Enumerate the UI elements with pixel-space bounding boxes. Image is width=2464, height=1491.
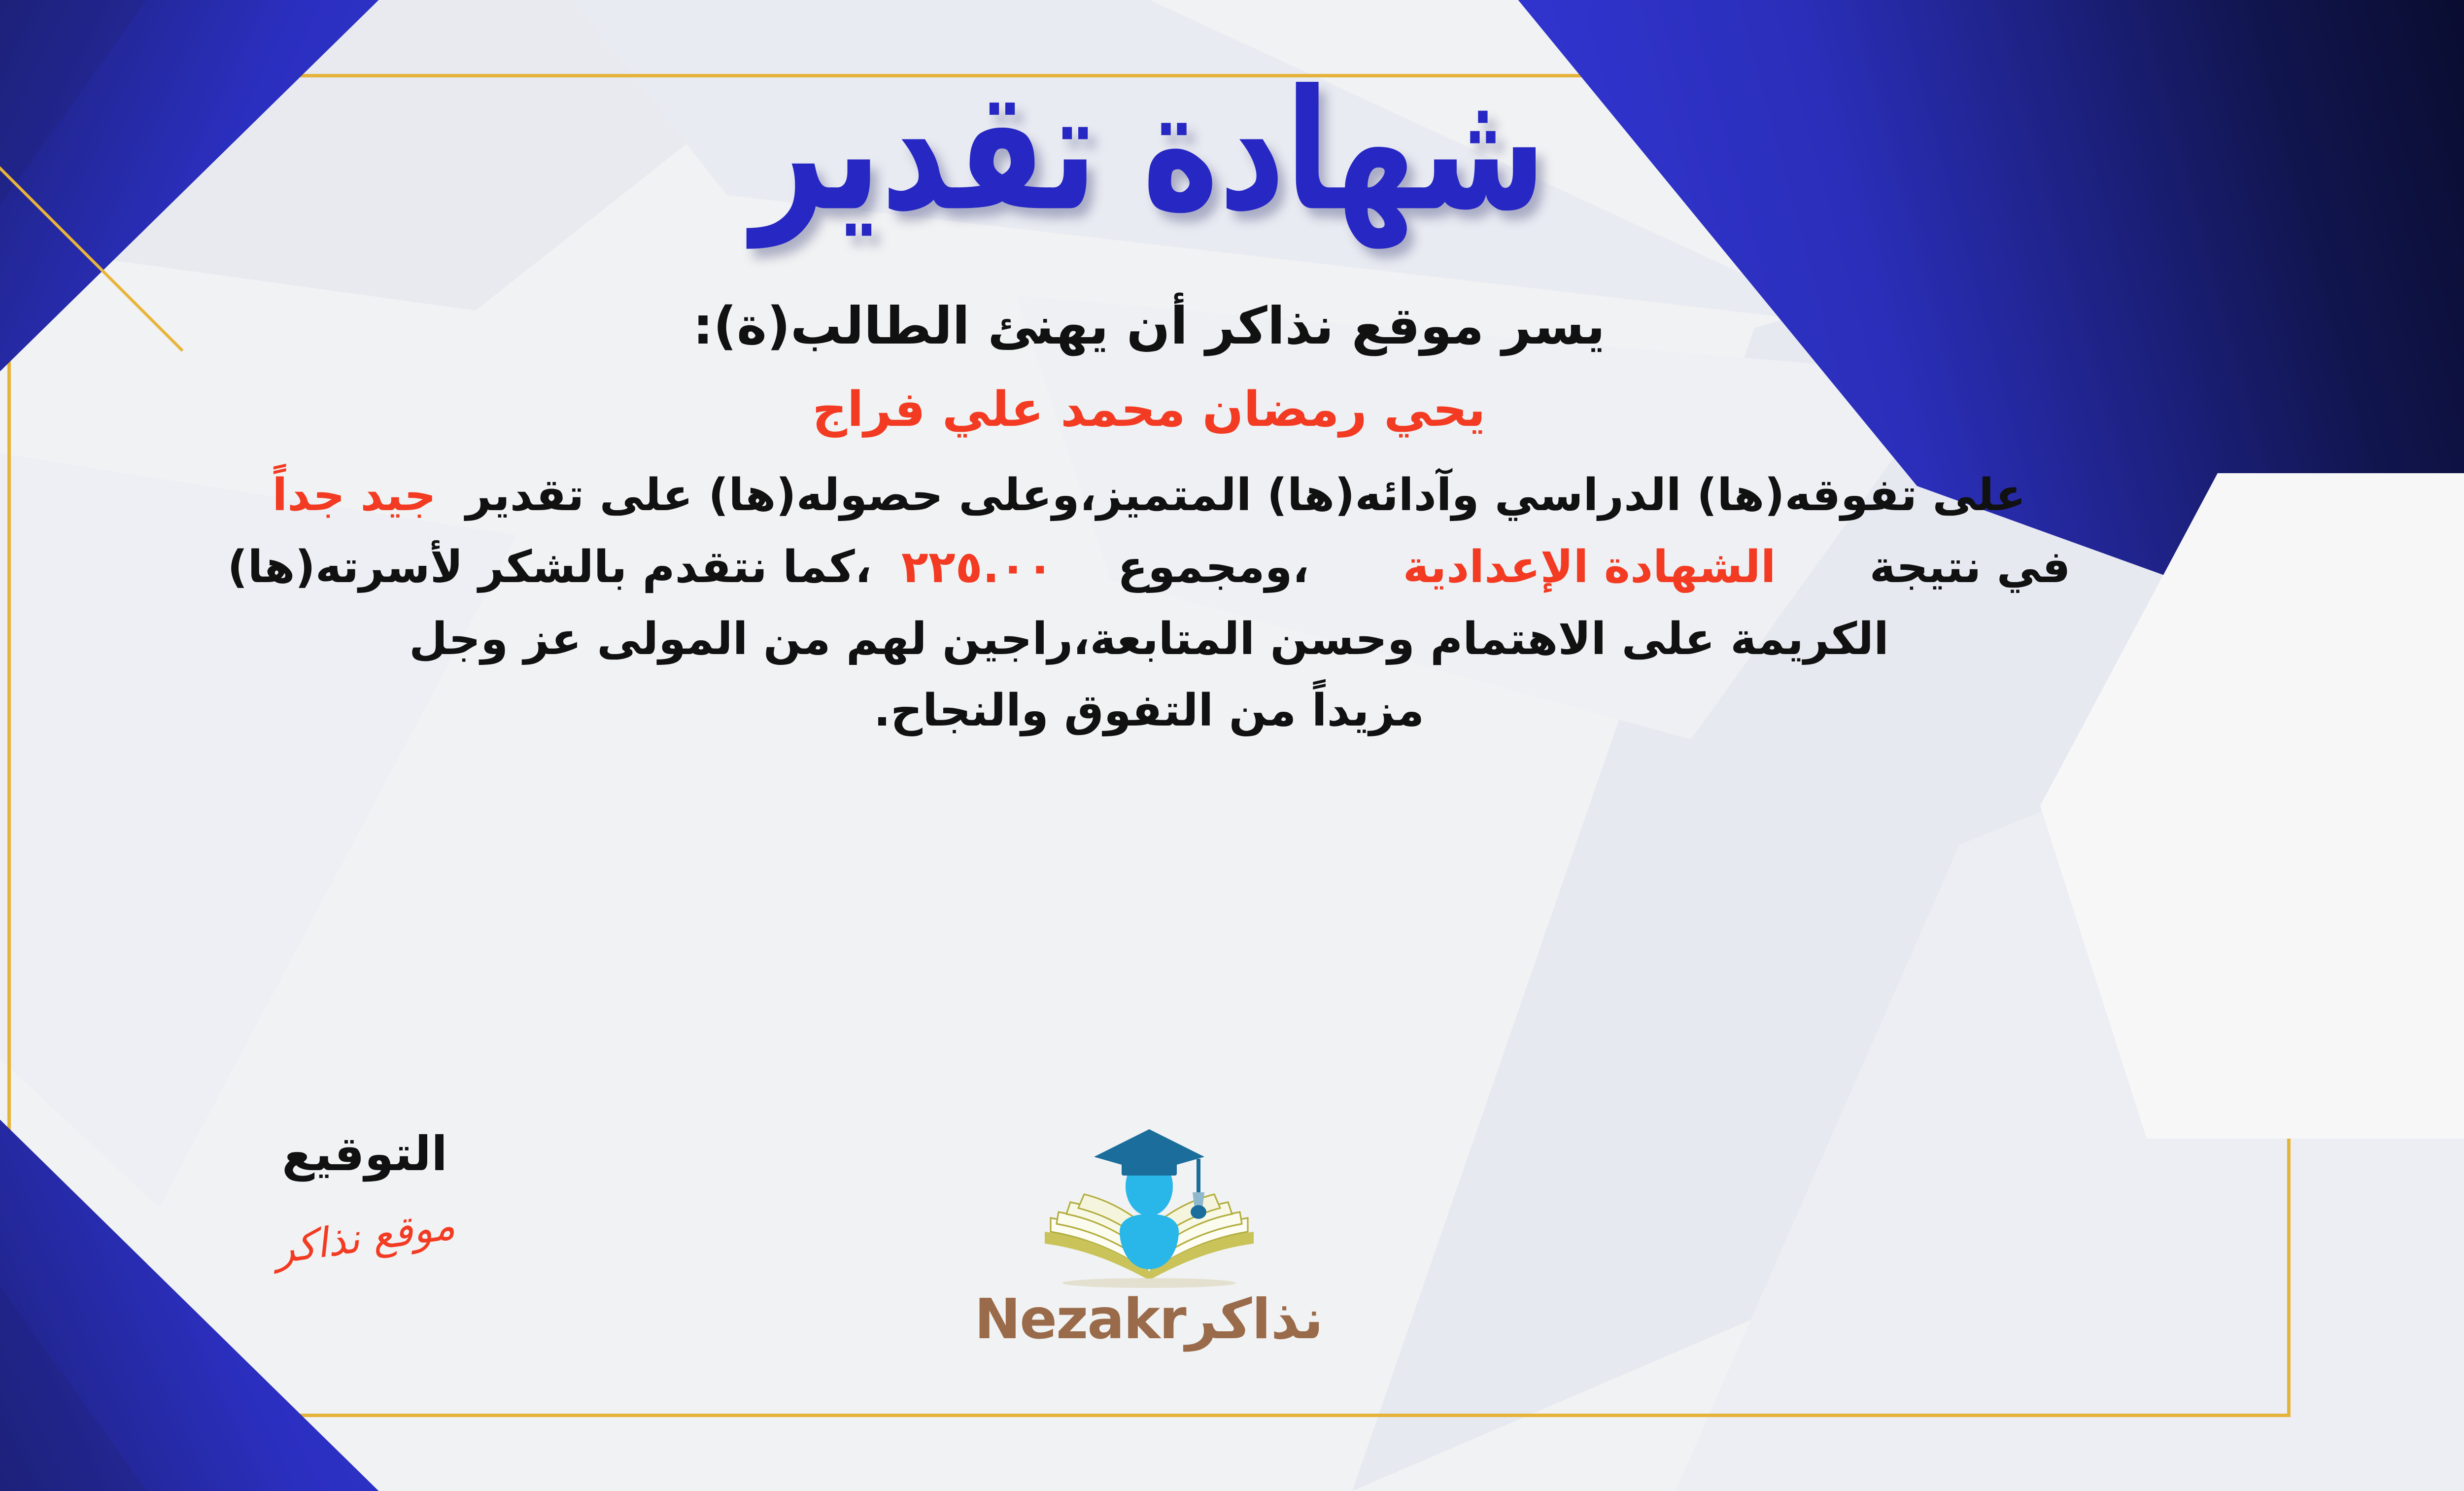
signature-label: التوقيع <box>177 1126 552 1181</box>
site-logo: نذاكرNezakr <box>927 1121 1371 1347</box>
body-line-5: الكريمة على الاهتمام وحسن المتابعة،راجين… <box>0 603 2307 675</box>
exam-name: الشهادة الإعدادية <box>1403 541 1776 593</box>
total-label: ،ومجموع <box>1118 541 1309 593</box>
logo-wordmark: نذاكرNezakr <box>927 1292 1371 1347</box>
certificate-body: على تفوقه(ها) الدراسي وآدائه(ها) المتميز… <box>0 459 2307 747</box>
body-line-3: على تفوقه(ها) الدراسي وآدائه(ها) المتميز… <box>0 459 2307 531</box>
body-line-3-text: على تفوقه(ها) الدراسي وآدائه(ها) المتميز… <box>466 469 2026 521</box>
certificate-title: شهادة تقدير <box>752 59 1546 242</box>
signature-mark: موقع نذاكر <box>272 1202 458 1273</box>
body-line-4: في نتيجةالشهادة الإعدادية،ومجموع٢٢٥.٠٠،ك… <box>0 531 2307 603</box>
total-score: ٢٢٥.٠٠ <box>901 541 1054 593</box>
certificate-document: شهادة تقدير يسر موقع نذاكر أن يهنئ الطال… <box>0 0 2464 1491</box>
result-prefix: في نتيجة <box>1870 541 2071 593</box>
student-name: يحي رمضان محمد علي فراج <box>812 381 1485 438</box>
grade-value: جيد جداً <box>272 469 436 521</box>
thanks-text: ،كما نتقدم بالشكر لأسرته(ها) <box>227 541 872 593</box>
logo-wordmark-latin: Nezakr <box>974 1292 1185 1347</box>
certificate-footer: التوقيع موقع نذاكر <box>0 1126 2464 1432</box>
logo-wordmark-arabic: نذاكر <box>1186 1287 1324 1352</box>
signature-block: التوقيع موقع نذاكر <box>177 1126 552 1261</box>
intro-line: يسر موقع نذاكر أن يهنئ الطالب(ة): <box>693 296 1605 356</box>
graduation-book-icon <box>1011 1121 1287 1289</box>
body-line-6: مزيداً من التفوق والنجاح. <box>0 675 2307 747</box>
